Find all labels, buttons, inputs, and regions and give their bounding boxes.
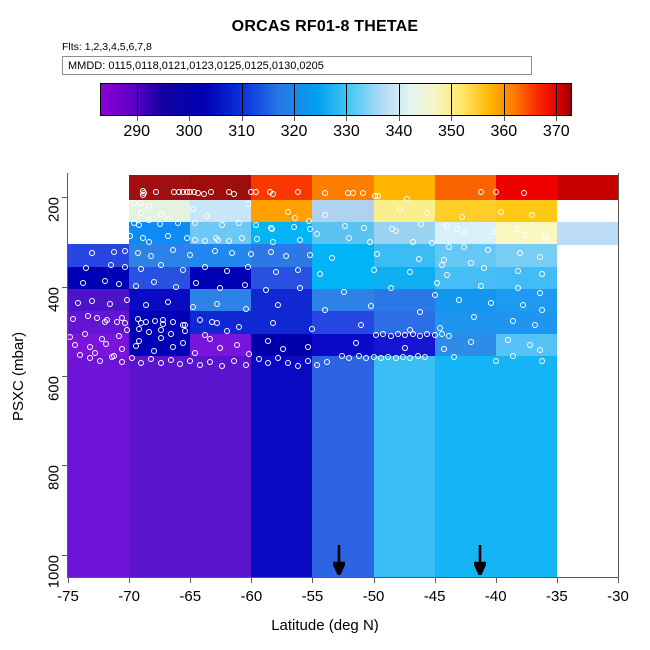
x-axis-line: [67, 577, 619, 578]
colorbar-tick-label: 320: [281, 123, 308, 141]
data-point: [108, 262, 114, 268]
data-point: [388, 333, 394, 339]
right-axis-line: [618, 173, 619, 577]
data-point: [498, 209, 504, 215]
heatmap-cell: [496, 200, 558, 223]
x-tick: [435, 577, 436, 583]
data-point: [136, 222, 142, 228]
colorbar-tick: [137, 83, 138, 116]
heatmap-cell: [557, 222, 619, 245]
heatmap-cell: [312, 311, 374, 334]
data-point: [459, 214, 465, 220]
data-point: [418, 221, 424, 227]
data-point: [151, 279, 157, 285]
data-point: [305, 358, 311, 364]
heatmap-cell: [435, 356, 497, 578]
data-point: [283, 253, 289, 259]
x-tick: [190, 577, 191, 583]
x-tick-label: -30: [607, 588, 629, 605]
data-point: [314, 231, 320, 237]
data-point: [168, 331, 174, 337]
colorbar-tick: [504, 83, 505, 116]
y-tick: [62, 465, 68, 466]
data-point: [307, 226, 313, 232]
colorbar-tick-mark: [189, 116, 190, 121]
x-tick: [496, 577, 497, 583]
data-point: [514, 226, 520, 232]
data-point: [146, 239, 152, 245]
colorbar-tick: [399, 83, 400, 116]
data-point: [153, 189, 159, 195]
heatmap-cell: [251, 334, 313, 357]
data-point: [214, 301, 220, 307]
heatmap-cell: [312, 267, 374, 290]
data-point: [173, 284, 179, 290]
colorbar-tick-mark: [451, 116, 452, 121]
data-point: [417, 309, 423, 315]
x-tick: [129, 577, 130, 583]
y-tick: [62, 376, 68, 377]
arrow-marker: [474, 545, 486, 575]
data-point: [75, 300, 81, 306]
data-point: [417, 333, 423, 339]
data-point: [322, 190, 328, 196]
data-point: [371, 267, 377, 273]
data-point: [510, 318, 516, 324]
data-point: [305, 344, 311, 350]
data-point: [124, 297, 130, 303]
y-tick: [62, 197, 68, 198]
colorbar-tick: [346, 83, 347, 116]
data-point: [471, 314, 477, 320]
colorbar: 290300310320330340350360370: [100, 83, 572, 116]
data-point: [168, 357, 174, 363]
data-point: [322, 307, 328, 313]
heatmap-cell: [374, 244, 436, 267]
data-point: [87, 344, 93, 350]
heatmap-cell: [435, 175, 497, 200]
data-point: [180, 322, 186, 328]
data-point: [212, 248, 218, 254]
data-point: [92, 350, 98, 356]
colorbar-tick-mark: [242, 116, 243, 121]
data-point: [224, 328, 230, 334]
x-tick: [251, 577, 252, 583]
data-point: [416, 256, 422, 262]
data-point: [151, 348, 157, 354]
heatmap-cell: [129, 289, 191, 312]
data-point: [478, 283, 484, 289]
colorbar-tick-label: 370: [543, 123, 570, 141]
data-point: [295, 363, 301, 369]
data-point: [231, 191, 237, 197]
data-point: [285, 209, 291, 215]
data-point: [180, 340, 186, 346]
data-point: [102, 278, 108, 284]
data-point: [439, 331, 445, 337]
data-point: [360, 190, 366, 196]
data-point: [256, 356, 262, 362]
heatmap-cell: [374, 356, 436, 578]
data-point: [146, 203, 152, 209]
data-point: [131, 200, 137, 206]
colorbar-tick-label: 350: [438, 123, 465, 141]
data-point: [367, 239, 373, 245]
data-point: [195, 190, 201, 196]
data-point: [432, 292, 438, 298]
x-tick-label: -55: [302, 588, 324, 605]
data-point: [138, 360, 144, 366]
data-point: [306, 218, 312, 224]
heatmap-cell: [496, 289, 558, 312]
data-point: [204, 213, 210, 219]
colorbar-tick-mark: [504, 116, 505, 121]
x-tick: [68, 577, 69, 583]
heatmap-cell: [496, 356, 558, 578]
page-title: ORCAS RF01-8 THETAE: [0, 18, 650, 36]
heatmap-cell: [312, 175, 374, 200]
y-axis-title: PSXC (mbar): [10, 331, 27, 420]
data-point: [468, 260, 474, 266]
data-point: [317, 271, 323, 277]
y-tick-label: 200: [46, 197, 63, 222]
data-point: [488, 300, 494, 306]
data-point: [165, 233, 171, 239]
heatmap-cell: [251, 356, 313, 578]
data-point: [393, 355, 399, 361]
data-point: [187, 358, 193, 364]
data-point: [85, 313, 91, 319]
heatmap-cell: [251, 289, 313, 312]
data-point: [415, 353, 421, 359]
data-point: [136, 326, 142, 332]
data-point: [268, 249, 274, 255]
data-point: [461, 230, 467, 236]
x-tick-label: -45: [424, 588, 446, 605]
data-point: [192, 350, 198, 356]
y-axis-line: [67, 173, 68, 577]
data-point: [404, 196, 410, 202]
heatmap-cell: [312, 200, 374, 223]
data-point: [239, 235, 245, 241]
heatmap-plot[interactable]: 2004006008001000 -75-70-65-60-55-50-45-4…: [68, 175, 618, 577]
data-point: [295, 189, 301, 195]
data-point: [97, 358, 103, 364]
colorbar-tick-mark: [294, 116, 295, 121]
colorbar-tick-label: 290: [123, 123, 150, 141]
data-point: [201, 191, 207, 197]
heatmap-cell: [129, 356, 191, 578]
x-tick: [618, 577, 619, 583]
data-point: [361, 225, 367, 231]
data-point: [393, 228, 399, 234]
data-point: [217, 345, 223, 351]
data-point: [234, 342, 240, 348]
data-point: [224, 268, 230, 274]
data-point: [190, 206, 196, 212]
data-point: [324, 359, 330, 365]
colorbar-tick: [189, 83, 190, 116]
x-tick-label: -50: [363, 588, 385, 605]
data-point: [119, 359, 125, 365]
x-tick: [312, 577, 313, 583]
data-point: [121, 234, 127, 240]
mmdd-label: MMDD: 0115,0118,0121,0123,0125,0125,0130…: [68, 60, 324, 72]
data-point: [197, 317, 203, 323]
colorbar-gradient: [101, 84, 571, 115]
heatmap-cell: [374, 222, 436, 245]
data-point: [107, 301, 113, 307]
data-point: [246, 351, 252, 357]
arrow-marker: [333, 545, 345, 575]
heatmap-cell: [557, 175, 619, 200]
colorbar-frame: [100, 83, 572, 116]
data-point: [515, 268, 521, 274]
heatmap-cell: [251, 311, 313, 334]
heatmap-cell: [435, 289, 497, 312]
data-point: [97, 235, 103, 241]
data-point: [378, 355, 384, 361]
data-point: [202, 332, 208, 338]
data-point: [297, 237, 303, 243]
data-point: [77, 352, 83, 358]
data-point: [140, 235, 146, 241]
data-point: [135, 250, 141, 256]
heatmap-cell: [190, 200, 252, 223]
y-tick: [62, 287, 68, 288]
data-point: [129, 355, 135, 361]
heatmap-cell: [374, 267, 436, 290]
heatmap-cell: [496, 175, 558, 200]
colorbar-tick: [556, 83, 557, 116]
data-point: [539, 358, 545, 364]
data-point: [152, 318, 158, 324]
data-point: [231, 358, 237, 364]
data-point: [253, 189, 259, 195]
heatmap-cell: [251, 222, 313, 245]
data-point: [297, 285, 303, 291]
data-point: [350, 190, 356, 196]
heatmap-cell: [190, 244, 252, 267]
data-point: [158, 327, 164, 333]
data-point: [410, 239, 416, 245]
heatmap-cell: [251, 267, 313, 290]
data-point: [180, 267, 186, 273]
data-point: [114, 319, 120, 325]
data-point: [291, 224, 297, 230]
data-point: [208, 189, 214, 195]
colorbar-tick-label: 360: [490, 123, 517, 141]
data-point: [322, 212, 328, 218]
heatmap-cell: [190, 356, 252, 578]
y-tick-label: 600: [46, 376, 63, 401]
data-point: [157, 221, 163, 227]
heatmap-cell: [129, 175, 191, 200]
x-tick-label: -40: [485, 588, 507, 605]
data-point: [527, 342, 533, 348]
heatmap-cell: [68, 356, 130, 578]
colorbar-tick: [242, 83, 243, 116]
data-point: [207, 359, 213, 365]
heatmap-cell: [68, 244, 130, 267]
data-point: [190, 304, 196, 310]
data-point: [140, 192, 146, 198]
heatmap-cell: [496, 267, 558, 290]
colorbar-tick-label: 310: [228, 123, 255, 141]
data-point: [437, 325, 443, 331]
data-point: [521, 190, 527, 196]
heatmap-cell: [374, 289, 436, 312]
data-point: [444, 272, 450, 278]
y-tick-label: 400: [46, 287, 63, 312]
data-point: [373, 332, 379, 338]
colorbar-tick: [451, 83, 452, 116]
data-point: [371, 354, 377, 360]
x-tick-label: -35: [546, 588, 568, 605]
colorbar-tick-label: 300: [176, 123, 203, 141]
data-point: [537, 290, 543, 296]
colorbar-tick-label: 340: [386, 123, 413, 141]
data-point: [236, 324, 242, 330]
colorbar-tick-mark: [556, 116, 557, 121]
heatmap-cell: [435, 267, 497, 290]
colorbar-tick: [294, 83, 295, 116]
heatmap-cell: [496, 311, 558, 334]
data-point: [532, 322, 538, 328]
heatmap-cell: [435, 200, 497, 223]
x-tick-label: -75: [57, 588, 79, 605]
data-point: [493, 358, 499, 364]
heatmap-cell: [190, 175, 252, 200]
colorbar-tick-label: 330: [333, 123, 360, 141]
data-point: [202, 238, 208, 244]
data-point: [481, 265, 487, 271]
data-point: [295, 267, 301, 273]
x-tick: [374, 577, 375, 583]
mmdd-box[interactable]: MMDD: 0115,0118,0121,0123,0125,0125,0130…: [62, 56, 532, 75]
data-point: [103, 341, 109, 347]
x-tick-label: -70: [118, 588, 140, 605]
data-point: [170, 319, 176, 325]
data-point: [158, 335, 164, 341]
data-point: [104, 317, 110, 323]
data-point: [80, 280, 86, 286]
heatmap-cell: [435, 334, 497, 357]
data-point: [522, 232, 528, 238]
colorbar-tick-mark: [137, 116, 138, 121]
data-point: [410, 331, 416, 337]
data-point: [70, 316, 76, 322]
y-tick-label: 1000: [46, 555, 63, 588]
data-point: [537, 254, 543, 260]
heatmap-cell: [496, 244, 558, 267]
data-point: [229, 250, 235, 256]
y-tick: [62, 555, 68, 556]
colorbar-tick-mark: [346, 116, 347, 121]
data-point: [146, 217, 152, 223]
data-point: [219, 222, 225, 228]
colorbar-tick-mark: [399, 116, 400, 121]
data-point: [542, 236, 548, 242]
data-point: [285, 360, 291, 366]
x-axis-title: Latitude (deg N): [0, 617, 650, 634]
heatmap-cell: [251, 200, 313, 223]
y-tick-label: 800: [46, 465, 63, 490]
data-point: [119, 346, 125, 352]
x-tick: [557, 577, 558, 583]
data-point: [135, 316, 141, 322]
flights-label: Flts: 1,2,3,4,5,6,7,8: [62, 41, 152, 53]
x-tick-label: -60: [240, 588, 262, 605]
data-point: [537, 347, 543, 353]
data-point: [146, 329, 152, 335]
data-point: [517, 250, 523, 256]
heatmap-cell: [312, 244, 374, 267]
x-tick-label: -65: [179, 588, 201, 605]
heatmap-cell: [251, 175, 313, 200]
